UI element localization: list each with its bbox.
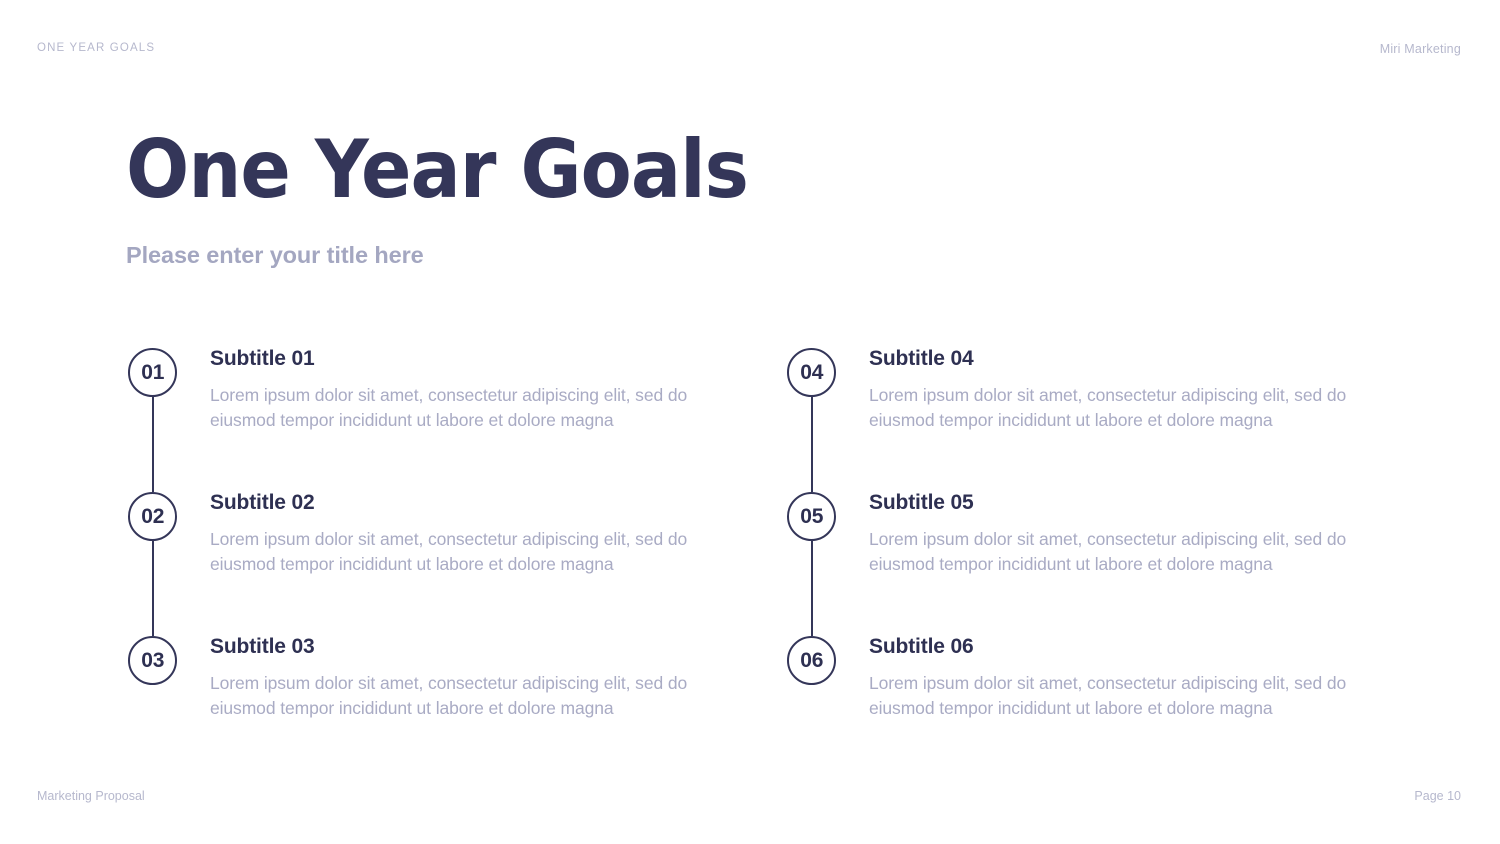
timeline-item-text: Subtitle 02 Lorem ipsum dolor sit amet, … [210, 490, 730, 577]
timeline-item-04[interactable]: 04 Subtitle 04 Lorem ipsum dolor sit ame… [787, 348, 1387, 492]
timeline-item-text: Subtitle 04 Lorem ipsum dolor sit amet, … [869, 346, 1389, 433]
timeline-item-heading: Subtitle 04 [869, 346, 1389, 372]
page-title: One Year Goals [126, 126, 748, 214]
slide-one-year-goals: ONE YEAR GOALS Miri Marketing One Year G… [0, 0, 1500, 844]
timeline-item-05[interactable]: 05 Subtitle 05 Lorem ipsum dolor sit ame… [787, 492, 1387, 636]
running-head-right: Miri Marketing [1380, 42, 1461, 56]
timeline-item-01[interactable]: 01 Subtitle 01 Lorem ipsum dolor sit ame… [128, 348, 728, 492]
footer-page-number: Page 10 [1414, 789, 1461, 803]
timeline-item-text: Subtitle 03 Lorem ipsum dolor sit amet, … [210, 634, 730, 721]
timeline-item-body: Lorem ipsum dolor sit amet, consectetur … [210, 660, 730, 721]
connector-line [152, 541, 154, 636]
timeline-item-text: Subtitle 01 Lorem ipsum dolor sit amet, … [210, 346, 730, 433]
step-number: 01 [141, 362, 164, 383]
step-number: 05 [800, 506, 823, 527]
step-marker-01[interactable]: 01 [128, 348, 177, 397]
timeline-item-body: Lorem ipsum dolor sit amet, consectetur … [210, 372, 730, 433]
connector-line [811, 397, 813, 492]
timeline-item-heading: Subtitle 06 [869, 634, 1389, 660]
step-marker-03[interactable]: 03 [128, 636, 177, 685]
step-marker-05[interactable]: 05 [787, 492, 836, 541]
step-number: 04 [800, 362, 823, 383]
connector-line [811, 541, 813, 636]
step-number: 03 [141, 650, 164, 671]
connector-line [152, 397, 154, 492]
step-marker-06[interactable]: 06 [787, 636, 836, 685]
timeline-item-text: Subtitle 06 Lorem ipsum dolor sit amet, … [869, 634, 1389, 721]
step-number: 02 [141, 506, 164, 527]
page-subtitle: Please enter your title here [126, 214, 795, 269]
timeline-item-body: Lorem ipsum dolor sit amet, consectetur … [869, 372, 1389, 433]
title-block: One Year Goals Please enter your title h… [126, 126, 795, 269]
timeline-item-06[interactable]: 06 Subtitle 06 Lorem ipsum dolor sit ame… [787, 636, 1387, 780]
step-marker-02[interactable]: 02 [128, 492, 177, 541]
footer-left-label: Marketing Proposal [37, 789, 145, 803]
timeline-item-heading: Subtitle 02 [210, 490, 730, 516]
timeline-item-heading: Subtitle 01 [210, 346, 730, 372]
timeline-item-body: Lorem ipsum dolor sit amet, consectetur … [210, 516, 730, 577]
timeline-item-02[interactable]: 02 Subtitle 02 Lorem ipsum dolor sit ame… [128, 492, 728, 636]
timeline-item-body: Lorem ipsum dolor sit amet, consectetur … [869, 660, 1389, 721]
step-number: 06 [800, 650, 823, 671]
timeline-item-body: Lorem ipsum dolor sit amet, consectetur … [869, 516, 1389, 577]
running-head-left: ONE YEAR GOALS [37, 42, 155, 54]
timeline-item-heading: Subtitle 03 [210, 634, 730, 660]
step-marker-04[interactable]: 04 [787, 348, 836, 397]
timeline-item-text: Subtitle 05 Lorem ipsum dolor sit amet, … [869, 490, 1389, 577]
timeline-item-heading: Subtitle 05 [869, 490, 1389, 516]
timeline-item-03[interactable]: 03 Subtitle 03 Lorem ipsum dolor sit ame… [128, 636, 728, 780]
